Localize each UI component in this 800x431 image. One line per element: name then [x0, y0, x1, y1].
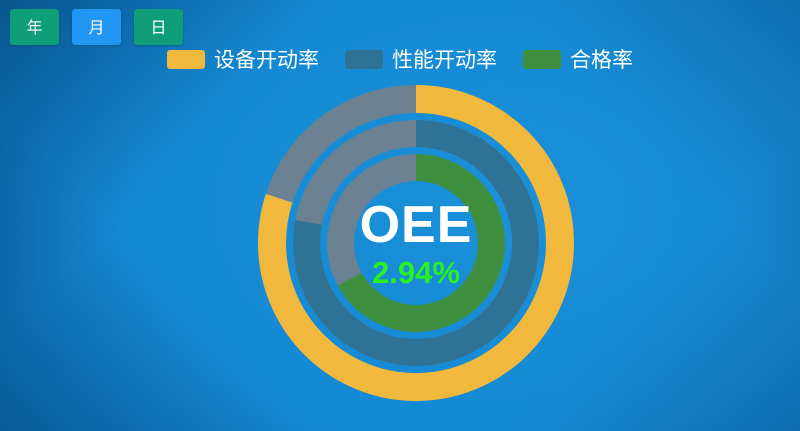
period-button-day[interactable]: 日	[134, 9, 183, 45]
legend-swatch-quality	[523, 50, 561, 69]
legend-label-quality: 合格率	[570, 44, 633, 74]
legend-item-quality[interactable]: 合格率	[523, 44, 633, 74]
gauge-svg	[258, 85, 574, 401]
chart-legend: 设备开动率 性能开动率 合格率	[0, 44, 800, 74]
legend-item-equipment[interactable]: 设备开动率	[167, 44, 319, 74]
legend-swatch-equipment	[167, 50, 205, 69]
period-button-year[interactable]: 年	[10, 9, 59, 45]
legend-item-performance[interactable]: 性能开动率	[345, 44, 497, 74]
oee-radial-gauge	[258, 85, 574, 401]
legend-label-equipment: 设备开动率	[214, 44, 319, 74]
legend-swatch-performance	[345, 50, 383, 69]
period-button-month[interactable]: 月	[72, 9, 121, 45]
oee-dashboard: 年 月 日 设备开动率 性能开动率 合格率	[0, 0, 800, 431]
legend-label-performance: 性能开动率	[392, 44, 497, 74]
period-selector: 年 月 日	[10, 9, 183, 45]
